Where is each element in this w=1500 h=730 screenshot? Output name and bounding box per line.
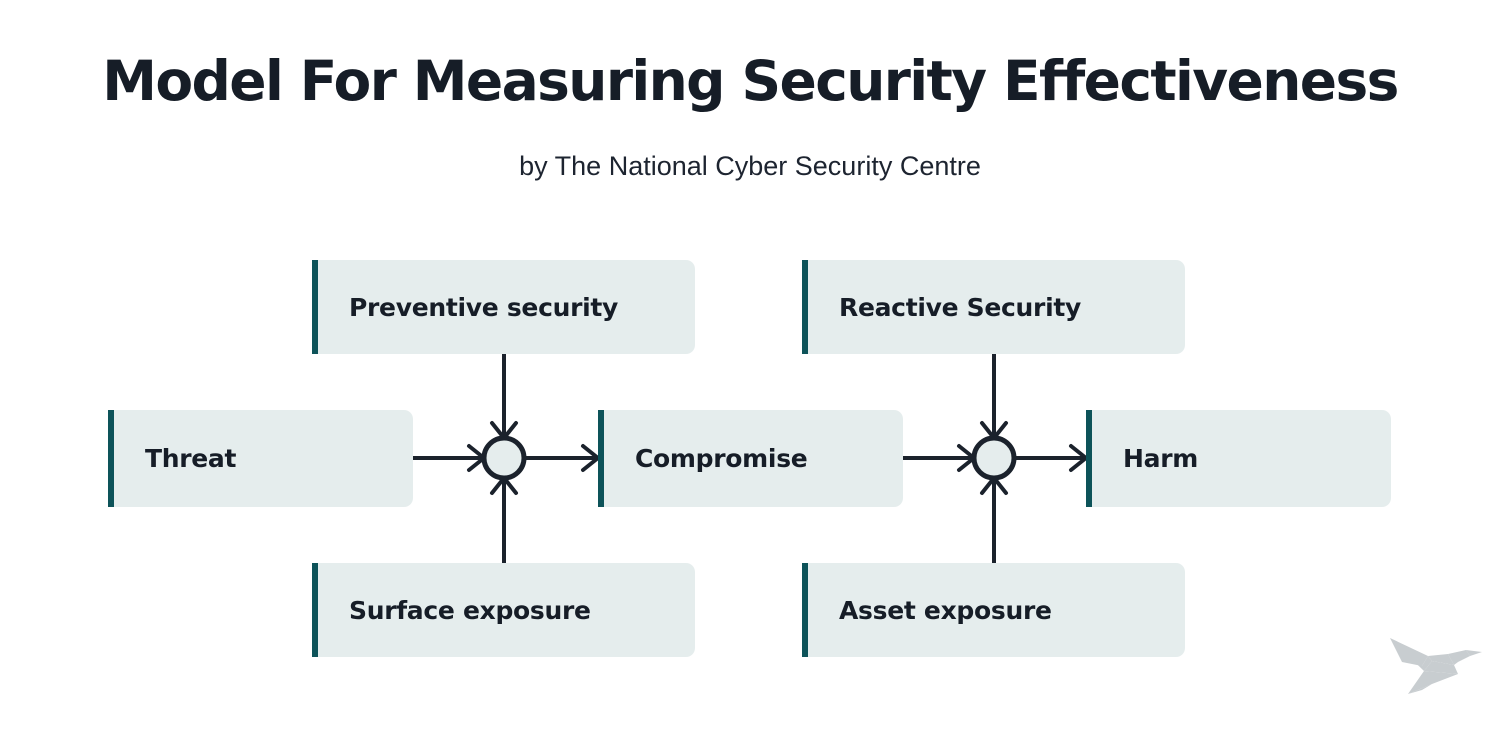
edge-asset-exposure-to-junction-right [982,478,1006,563]
junction-left-node [484,438,524,478]
node-label: Reactive Security [808,293,1081,322]
node-surface-exposure[interactable]: Surface exposure [312,563,695,657]
edge-junction-left-to-compromise [524,446,598,470]
node-label: Asset exposure [808,596,1052,625]
node-reactive-security[interactable]: Reactive Security [802,260,1185,354]
edge-threat-to-junction-left [413,446,484,470]
node-threat[interactable]: Threat [108,410,413,507]
node-label: Harm [1092,444,1198,473]
node-label: Compromise [604,444,807,473]
edge-preventive-security-to-junction-left [492,354,516,438]
node-harm[interactable]: Harm [1086,410,1391,507]
connector-layer [0,0,1500,730]
edge-junction-right-to-harm [1014,446,1086,470]
node-preventive-security[interactable]: Preventive security [312,260,695,354]
node-compromise[interactable]: Compromise [598,410,903,507]
node-label: Surface exposure [318,596,591,625]
origami-bird-logo-icon [1388,628,1484,708]
edge-reactive-security-to-junction-right [982,354,1006,438]
node-asset-exposure[interactable]: Asset exposure [802,563,1185,657]
node-label: Threat [114,444,236,473]
edge-surface-exposure-to-junction-left [492,478,516,563]
diagram-canvas: Model For Measuring Security Effectivene… [0,0,1500,730]
junction-right-node [974,438,1014,478]
node-label: Preventive security [318,293,618,322]
edge-compromise-to-junction-right [903,446,974,470]
